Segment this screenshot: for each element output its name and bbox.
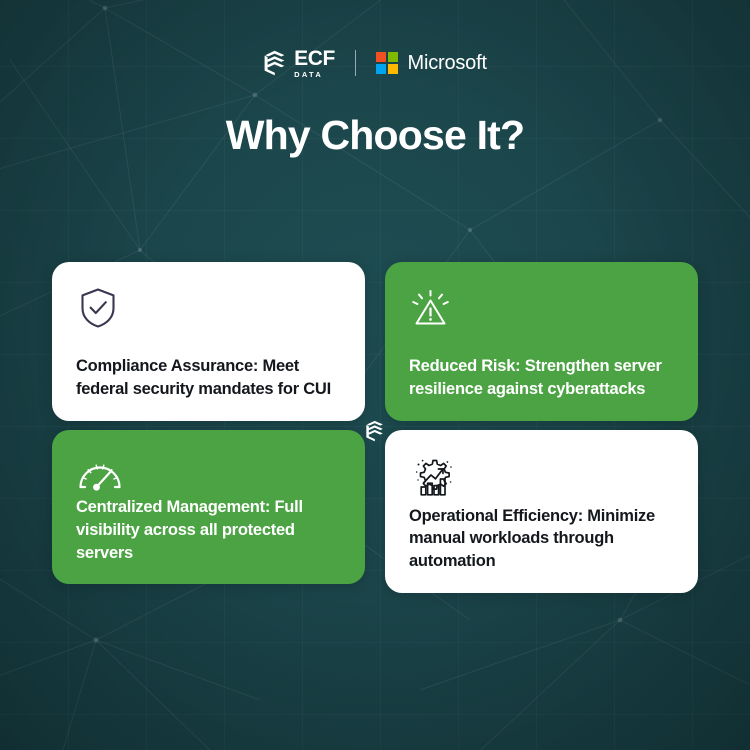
card-operational-efficiency: Operational Efficiency: Minimize manual … (385, 430, 698, 593)
card-efficiency-text: Operational Efficiency: Minimize manual … (409, 505, 674, 573)
ecf-layers-icon (263, 50, 287, 76)
card-compliance-text: Compliance Assurance: Meet federal secur… (76, 355, 341, 401)
page-title: Why Choose It? (0, 112, 750, 159)
card-compliance-assurance: Compliance Assurance: Meet federal secur… (52, 262, 365, 421)
microsoft-square-blue (376, 64, 386, 74)
ecf-wordmark: ECF DATA (294, 48, 335, 79)
brand-bar: ECF DATA Microsoft (0, 45, 750, 81)
microsoft-squares-icon (376, 52, 398, 74)
card-risk-text: Reduced Risk: Strengthen server resilien… (409, 355, 674, 401)
microsoft-wordmark: Microsoft (407, 52, 486, 75)
poster-canvas: ECF DATA Microsoft Why Choose It? Compli… (0, 0, 750, 750)
microsoft-logo: Microsoft (376, 52, 486, 75)
ecf-data-logo: ECF DATA (263, 48, 335, 79)
microsoft-square-red (376, 52, 386, 62)
brand-divider (355, 50, 357, 76)
ecf-subtitle: DATA (294, 71, 323, 79)
microsoft-square-green (388, 52, 398, 62)
ecf-layers-icon (365, 420, 385, 442)
ecf-name: ECF (294, 48, 335, 69)
card-management-text: Centralized Management: Full visibility … (76, 496, 341, 564)
center-ecf-badge (362, 418, 388, 444)
gauge-icon (76, 454, 124, 496)
warning-triangle-icon (409, 286, 453, 330)
card-centralized-management: Centralized Management: Full visibility … (52, 430, 365, 584)
card-reduced-risk: Reduced Risk: Strengthen server resilien… (385, 262, 698, 421)
gear-chart-icon (409, 454, 457, 502)
microsoft-square-yellow (388, 64, 398, 74)
shield-check-icon (76, 286, 120, 330)
